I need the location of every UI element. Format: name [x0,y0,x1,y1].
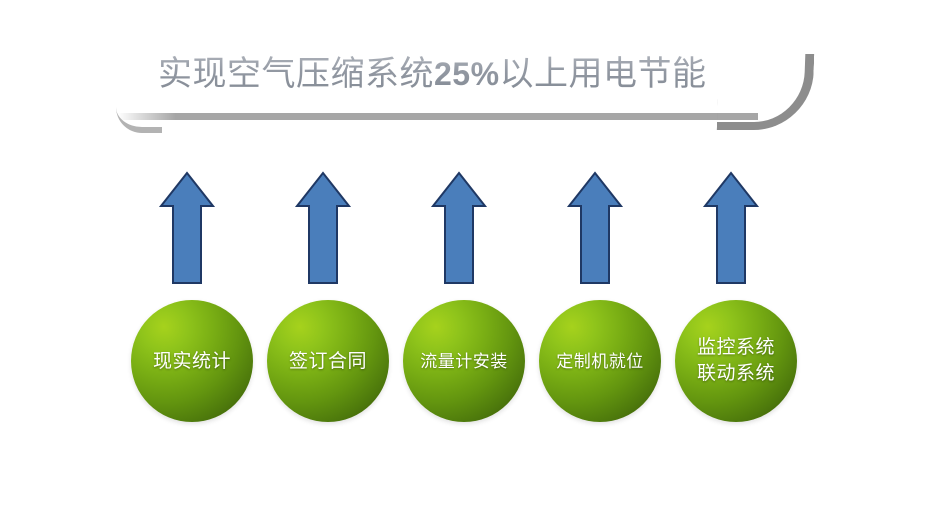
up-arrow-icon-5 [702,170,760,286]
up-arrow-icon-4 [566,170,624,286]
title-lead-text: 实现空气压缩系统 [158,56,434,93]
process-node-label-1: 现实统计 [153,349,231,374]
process-node-label-5-line2: 联动系统 [697,361,775,387]
page-title: 实现空气压缩系统25%以上用电节能 [158,46,758,102]
process-node-5[interactable]: 监控系统 联动系统 [675,300,797,422]
process-node-4[interactable]: 定制机就位 [539,300,661,422]
process-node-label-5: 监控系统 联动系统 [697,335,775,387]
up-arrow-icon-3 [430,170,488,286]
title-percent-text: 25% [434,56,500,92]
process-node-label-2: 签订合同 [289,349,367,374]
up-arrow-icon-2 [294,170,352,286]
up-arrow-icon-1 [158,170,216,286]
process-node-1[interactable]: 现实统计 [131,300,253,422]
process-node-label-5-line1: 监控系统 [697,335,775,361]
title-trail-text: 以上用电节能 [500,56,707,93]
process-node-2[interactable]: 签订合同 [267,300,389,422]
title-underline-rule [118,113,758,120]
title-underline-tail [116,103,162,133]
slide-canvas: 实现空气压缩系统25%以上用电节能 现实统计 签订合同 流量计安装 [0,0,945,529]
process-node-3[interactable]: 流量计安装 [403,300,525,422]
process-node-label-3: 流量计安装 [420,349,508,374]
title-block: 实现空气压缩系统25%以上用电节能 [118,40,790,132]
process-node-label-4: 定制机就位 [556,349,644,374]
